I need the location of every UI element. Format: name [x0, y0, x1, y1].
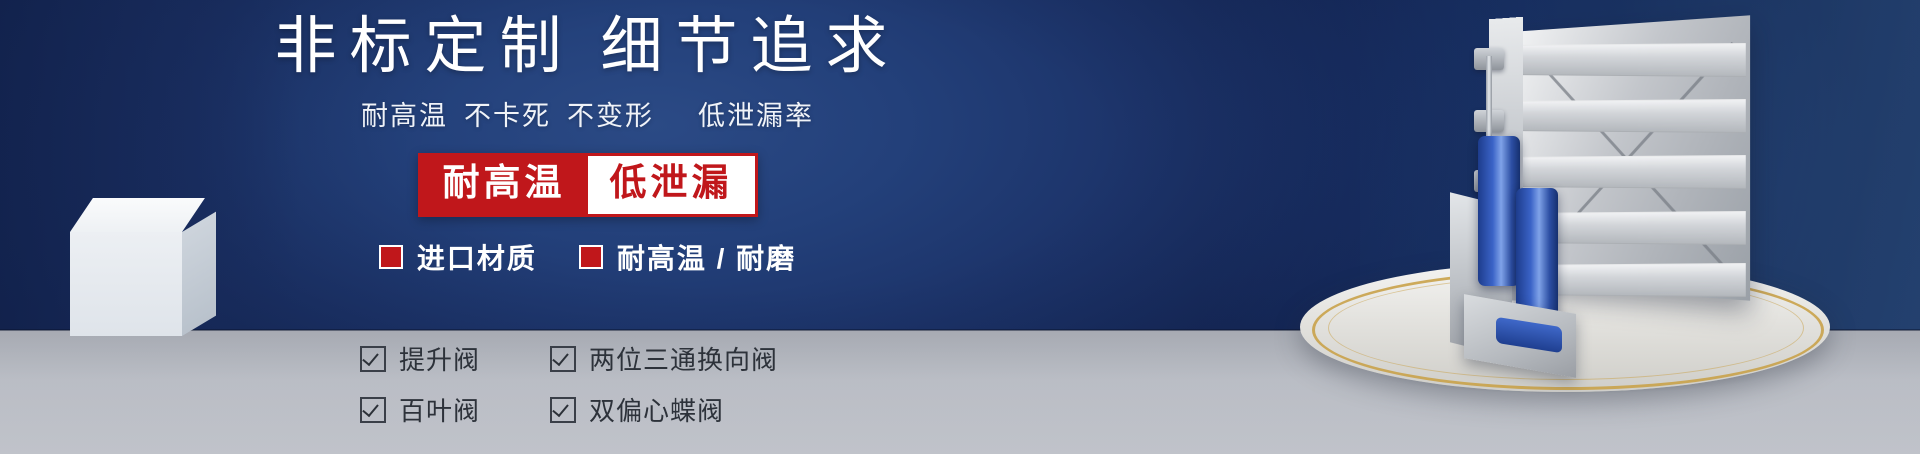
highlight-badge: 耐高温 低泄漏 [418, 153, 758, 217]
feature-item-heat-wear-resistant: 耐高温 / 耐磨 [579, 237, 796, 277]
checklist-label: 提升阀 [399, 340, 480, 377]
highlight-badge-wrapper: 耐高温 低泄漏 [0, 153, 1000, 217]
product-image [1160, 0, 1920, 454]
badge-white-segment: 低泄漏 [588, 156, 755, 214]
subheadline-item-2: 不卡死 [464, 101, 551, 131]
feature-label: 进口材质 [417, 237, 537, 277]
headline: 非标定制细节追求 [0, 16, 1000, 78]
checklist-row: 百叶阀 双偏心蝶阀 [360, 391, 820, 428]
product-checklist: 提升阀 两位三通换向阀 百叶阀 双偏心蝶阀 [360, 340, 820, 442]
pneumatic-actuator [1460, 126, 1570, 336]
checkbox-checked-icon [360, 397, 386, 423]
checklist-row: 提升阀 两位三通换向阀 [360, 340, 820, 377]
checkbox-checked-icon [360, 346, 386, 372]
headline-part-1: 非标定制 [274, 12, 574, 81]
checklist-label: 两位三通换向阀 [589, 340, 778, 377]
checklist-label: 百叶阀 [399, 391, 480, 428]
badge-red-segment: 耐高温 [421, 156, 588, 214]
feature-row: 进口材质 耐高温 / 耐磨 [0, 237, 1000, 277]
checklist-item-lift-valve: 提升阀 [360, 340, 550, 377]
headline-part-2: 细节追求 [601, 12, 901, 81]
banner-text-column: 非标定制细节追求 耐高温不卡死不变形低泄漏率 耐高温 低泄漏 进口材质 耐高温 … [0, 0, 1000, 277]
subheadline-item-3: 不变形 [567, 101, 654, 131]
checklist-item-louver-valve: 百叶阀 [360, 391, 550, 428]
feature-label: 耐高温 / 耐磨 [617, 237, 796, 277]
red-square-bullet-icon [379, 245, 403, 269]
subheadline-item-1: 耐高温 [361, 101, 448, 131]
checklist-item-two-position-three-way-valve: 两位三通换向阀 [550, 340, 778, 377]
promo-banner: 非标定制细节追求 耐高温不卡死不变形低泄漏率 耐高温 低泄漏 进口材质 耐高温 … [0, 0, 1920, 454]
subheadline: 耐高温不卡死不变形低泄漏率 [0, 94, 1000, 133]
subheadline-item-4: 低泄漏率 [698, 101, 814, 131]
checklist-item-double-eccentric-butterfly-valve: 双偏心蝶阀 [550, 391, 724, 428]
feature-item-imported-material: 进口材质 [379, 237, 537, 277]
damper-blade [1519, 43, 1745, 77]
checklist-label: 双偏心蝶阀 [589, 391, 724, 428]
checkbox-checked-icon [550, 397, 576, 423]
damper-valve-assembly [1460, 18, 1790, 318]
checkbox-checked-icon [550, 346, 576, 372]
red-square-bullet-icon [579, 245, 603, 269]
actuator-cylinder [1478, 136, 1520, 286]
